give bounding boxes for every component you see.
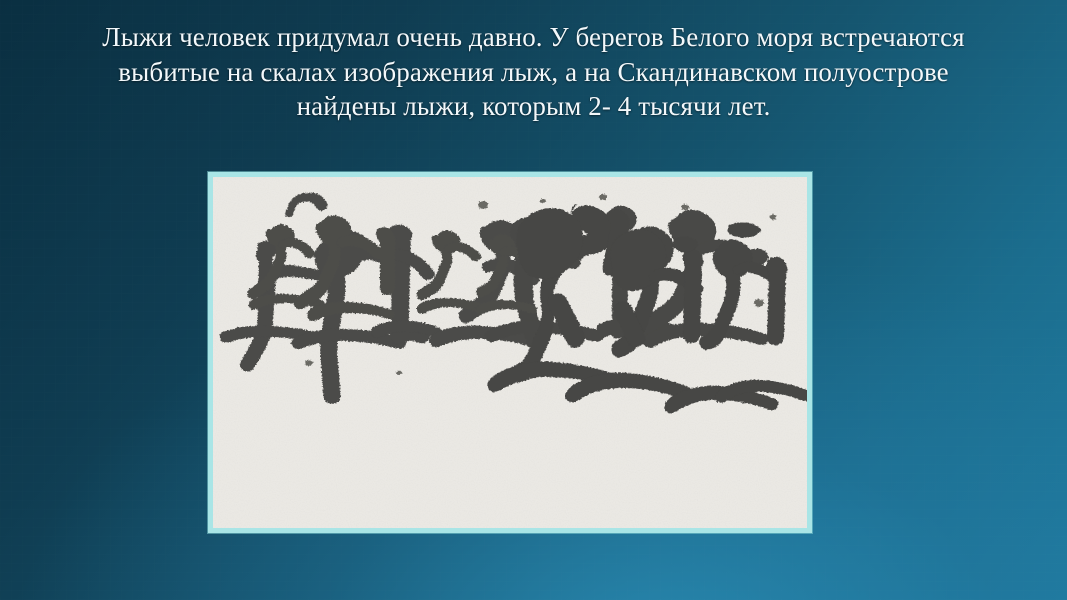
petroglyph-image [213,177,807,528]
petroglyph-image-frame [208,172,812,533]
petroglyph-skier-figures [213,177,807,528]
slide-caption-text: Лыжи человек придумал очень давно. У бер… [80,20,987,124]
slide-canvas: Лыжи человек придумал очень давно. У бер… [0,0,1067,600]
